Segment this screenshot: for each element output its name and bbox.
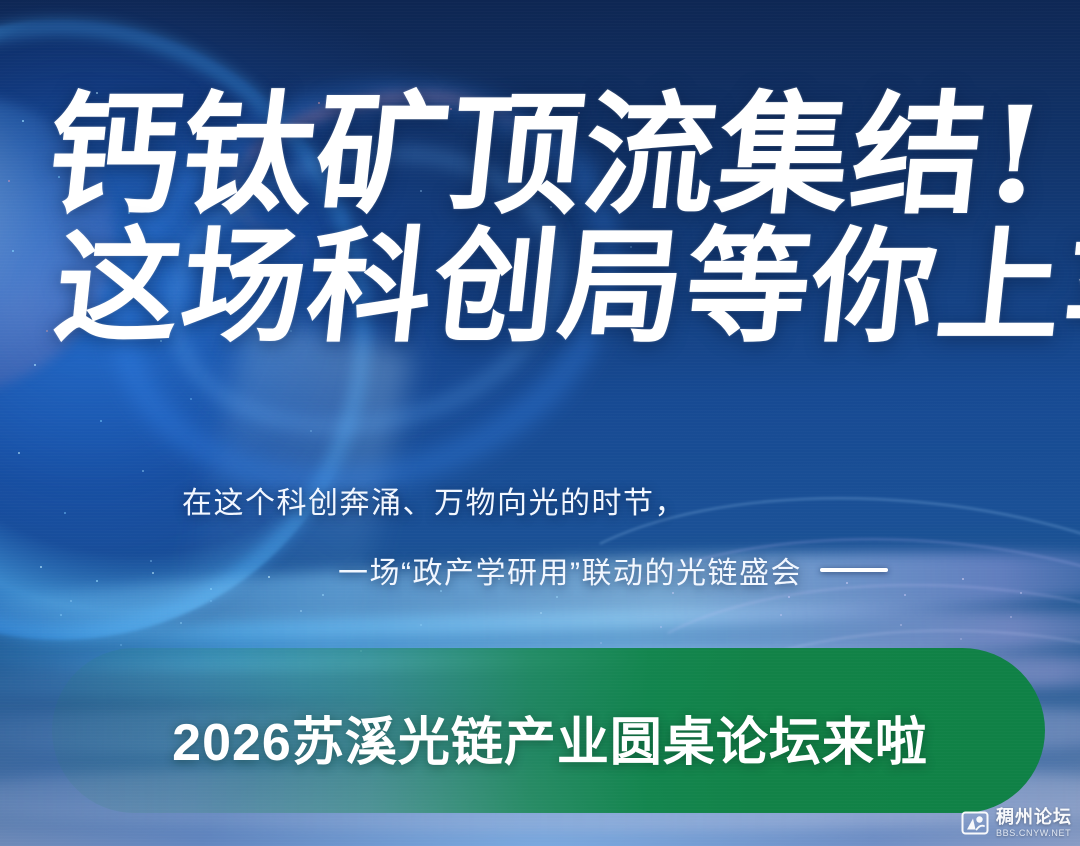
- event-banner-text: 2026苏溪光链产业圆桌论坛来啦: [0, 700, 1080, 775]
- subtitle-line-2: 一场“政产学研用”联动的光链盛会: [338, 548, 802, 592]
- horizontal-rule-icon: [820, 568, 888, 572]
- subtitle-line-2-row: 一场“政产学研用”联动的光链盛会: [0, 548, 1080, 592]
- headline-block: 钙钛矿顶流集结! 这场科创局等你上车!: [0, 86, 1080, 353]
- poster-canvas: 钙钛矿顶流集结! 这场科创局等你上车! 在这个科创奔涌、万物向光的时节， 一场“…: [0, 0, 1080, 846]
- watermark-text-block: 稠州论坛 BBS.CNYW.NET: [996, 808, 1072, 838]
- site-watermark: 稠州论坛 BBS.CNYW.NET: [961, 808, 1072, 838]
- forum-logo-icon: [961, 809, 989, 837]
- subtitle-line-1: 在这个科创奔涌、万物向光的时节，: [0, 478, 1080, 522]
- particle-field-globe: [0, 0, 2, 2]
- headline-line-2: 这场科创局等你上车!: [0, 222, 1080, 353]
- watermark-site-url: BBS.CNYW.NET: [996, 829, 1072, 838]
- headline-line-1: 钙钛矿顶流集结!: [0, 86, 1080, 226]
- watermark-site-name: 稠州论坛: [996, 808, 1072, 826]
- subtitle-block: 在这个科创奔涌、万物向光的时节， 一场“政产学研用”联动的光链盛会: [0, 478, 1080, 592]
